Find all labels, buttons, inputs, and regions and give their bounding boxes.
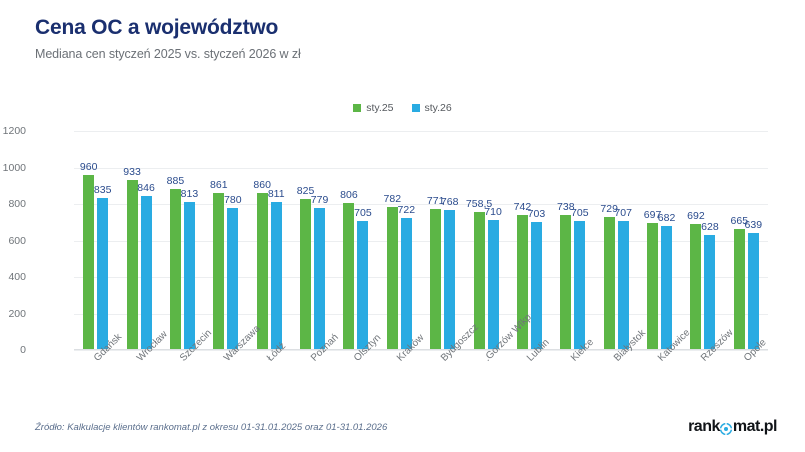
- y-axis-tick-label: 800: [0, 198, 26, 210]
- bar[interactable]: 960: [83, 175, 94, 350]
- bar[interactable]: 768: [444, 210, 455, 350]
- bar-value-label: 779: [311, 194, 329, 206]
- bar[interactable]: 771: [430, 209, 441, 350]
- bar-value-label: 722: [398, 204, 416, 216]
- x-axis-label-slot: Bydgoszcz: [421, 352, 464, 412]
- logo-text-after: mat.pl: [733, 418, 777, 436]
- bar[interactable]: 813: [184, 202, 195, 350]
- y-axis-tick-label: 600: [0, 235, 26, 247]
- bar[interactable]: 825: [300, 199, 311, 350]
- bar-value-label: 710: [484, 206, 502, 218]
- x-axis-labels: GdańskWrocławSzczecinWarszawaŁódźPoznańO…: [74, 352, 768, 412]
- bar-value-label: 780: [224, 194, 242, 206]
- bar-group: 729707: [595, 131, 638, 350]
- bar-group: 885813: [161, 131, 204, 350]
- bar[interactable]: 780: [227, 208, 238, 350]
- x-axis-label-slot: Rzeszów: [681, 352, 724, 412]
- logo-text-before: rank: [688, 418, 720, 436]
- bar-value-label: 835: [94, 184, 112, 196]
- bar[interactable]: 722: [401, 218, 412, 350]
- bar[interactable]: 628: [704, 235, 715, 350]
- rankomat-logo: rank mat.pl: [688, 418, 777, 436]
- y-axis-tick-label: 1200: [0, 125, 26, 137]
- bar[interactable]: 885: [170, 189, 181, 351]
- bar[interactable]: 782: [387, 207, 398, 350]
- plot-area: 020040060080010001200 960835933846885813…: [74, 131, 768, 350]
- bar-value-label: 768: [441, 196, 459, 208]
- bar-value-label: 692: [687, 210, 705, 222]
- legend-label: sty.25: [366, 102, 393, 114]
- bar[interactable]: 846: [141, 196, 152, 350]
- x-axis-label-slot: Warszawa: [204, 352, 247, 412]
- y-axis-tick-label: 1000: [0, 162, 26, 174]
- bar[interactable]: 697: [647, 223, 658, 350]
- x-axis-label-slot: Gdańsk: [74, 352, 117, 412]
- legend-label: sty.26: [425, 102, 452, 114]
- bar-value-label: 861: [210, 179, 228, 191]
- page-title: Cena OC a województwo: [35, 16, 278, 40]
- x-axis-label-slot: Katowice: [638, 352, 681, 412]
- y-axis-tick-label: 0: [0, 344, 26, 356]
- x-axis-label-slot: Kraków: [378, 352, 421, 412]
- x-axis-label-slot: Białystok: [595, 352, 638, 412]
- bar-group: 806705: [334, 131, 377, 350]
- bar[interactable]: 738: [560, 215, 571, 350]
- bar-value-label: 705: [571, 207, 589, 219]
- x-axis-label-slot: Łódź: [248, 352, 291, 412]
- chart-legend: sty.25sty.26: [0, 102, 805, 114]
- bar-group: 697682: [638, 131, 681, 350]
- bar[interactable]: 861: [213, 193, 224, 350]
- bar-group: 960835: [74, 131, 117, 350]
- bar[interactable]: 933: [127, 180, 138, 350]
- bar-value-label: 682: [658, 212, 676, 224]
- bar-value-label: 806: [340, 189, 358, 201]
- bar[interactable]: 692: [690, 224, 701, 350]
- bar-group: 860811: [248, 131, 291, 350]
- legend-swatch-icon: [353, 104, 361, 112]
- bar-group: 692628: [681, 131, 724, 350]
- legend-swatch-icon: [412, 104, 420, 112]
- chart-subtitle: Mediana cen styczeń 2025 vs. styczeń 202…: [35, 47, 301, 61]
- bar[interactable]: 835: [97, 198, 108, 350]
- x-axis-label-slot: Kielce: [551, 352, 594, 412]
- legend-item-sty-26[interactable]: sty.26: [412, 102, 452, 114]
- bar[interactable]: 703: [531, 222, 542, 350]
- bar[interactable]: 779: [314, 208, 325, 350]
- bar-value-label: 705: [354, 207, 372, 219]
- bar-group: 758,5710: [464, 131, 507, 350]
- bar[interactable]: 811: [271, 202, 282, 350]
- bar[interactable]: 639: [748, 233, 759, 350]
- compass-icon: [720, 422, 732, 434]
- x-axis-label-slot: Opole: [725, 352, 768, 412]
- bar-value-label: 703: [528, 208, 546, 220]
- bar[interactable]: 806: [343, 203, 354, 350]
- chart-page: Cena OC a województwo Mediana cen stycze…: [0, 0, 805, 452]
- bar-value-label: 885: [167, 175, 185, 187]
- bar[interactable]: 682: [661, 226, 672, 350]
- bar-value-label: 639: [745, 219, 763, 231]
- bar-group: 782722: [378, 131, 421, 350]
- source-note: Źródło: Kalkulacje klientów rankomat.pl …: [35, 422, 387, 433]
- bar[interactable]: 705: [357, 221, 368, 350]
- bar[interactable]: 665: [734, 229, 745, 350]
- bar[interactable]: 710: [488, 220, 499, 350]
- y-axis-tick-label: 400: [0, 271, 26, 283]
- bar-group: 771768: [421, 131, 464, 350]
- x-axis-label-slot: Gorzów Wlkp.: [464, 352, 507, 412]
- bar[interactable]: 705: [574, 221, 585, 350]
- x-axis-label-slot: Lublin: [508, 352, 551, 412]
- bar-value-label: 628: [701, 221, 719, 233]
- x-axis-label-slot: Wrocław: [117, 352, 160, 412]
- x-axis-label-slot: Olsztyn: [334, 352, 377, 412]
- bar-value-label: 933: [123, 166, 141, 178]
- y-axis-tick-label: 200: [0, 308, 26, 320]
- bar-group: 933846: [117, 131, 160, 350]
- bar-group: 665639: [725, 131, 768, 350]
- bar-groups: 9608359338468858138617808608118257798067…: [74, 131, 768, 350]
- bar-group: 738705: [551, 131, 594, 350]
- bar[interactable]: 707: [618, 221, 629, 350]
- bar[interactable]: 729: [604, 217, 615, 350]
- x-axis-label-slot: Szczecin: [161, 352, 204, 412]
- bar-value-label: 960: [80, 161, 98, 173]
- bar-value-label: 707: [614, 207, 632, 219]
- bar-value-label: 813: [181, 188, 199, 200]
- bar-group: 861780: [204, 131, 247, 350]
- legend-item-sty-25[interactable]: sty.25: [353, 102, 393, 114]
- bar-value-label: 811: [268, 188, 285, 200]
- bar-value-label: 846: [137, 182, 155, 194]
- bar-group: 825779: [291, 131, 334, 350]
- x-axis-label-slot: Poznań: [291, 352, 334, 412]
